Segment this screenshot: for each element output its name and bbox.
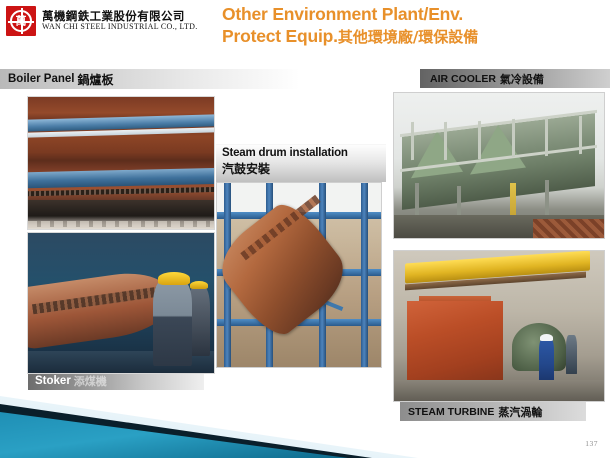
caption-steam-turbine: STEAM TURBINE蒸汽渦輪	[400, 402, 586, 421]
page-title: Other Environment Plant/Env. Protect Equ…	[222, 4, 602, 48]
company-name-en: WAN CHI STEEL INDUSTRIAL CO., LTD.	[42, 23, 198, 31]
caption-steam-drum-en: Steam drum installation	[222, 147, 386, 159]
caption-stoker: Stoker添煤機	[28, 372, 204, 390]
page-title-line1: Other Environment Plant/Env.	[222, 4, 602, 26]
boiler-panel-photo	[27, 96, 215, 230]
steam-drum-installation-photo	[216, 182, 382, 368]
caption-boiler-panel-cn: 鍋爐板	[77, 71, 113, 88]
company-name-block: 萬機鋼鉄工業股份有限公司 WAN CHI STEEL INDUSTRIAL CO…	[42, 10, 198, 31]
decorative-swoosh	[0, 378, 430, 458]
page-title-line2: Protect Equip.其他環境廠/環保設備	[222, 26, 602, 48]
wanchi-gear-logo-icon: 萬	[6, 6, 36, 36]
company-logo: 萬 萬機鋼鉄工業股份有限公司 WAN CHI STEEL INDUSTRIAL …	[6, 6, 198, 36]
page-number: 137	[585, 439, 598, 448]
air-cooler-photo	[393, 92, 605, 239]
caption-air-cooler-cn: 氣冷設備	[500, 71, 544, 87]
caption-boiler-panel: Boiler Panel鍋爐板	[0, 69, 300, 89]
caption-stoker-en: Stoker	[35, 375, 71, 387]
company-name-cn: 萬機鋼鉄工業股份有限公司	[42, 10, 198, 22]
caption-steam-turbine-en: STEAM TURBINE	[408, 406, 494, 418]
caption-air-cooler: AIR COOLER氣冷設備	[420, 69, 610, 88]
caption-boiler-panel-en: Boiler Panel	[8, 73, 74, 85]
page-title-line2-en: Protect Equip.	[222, 26, 338, 46]
caption-stoker-cn: 添煤機	[74, 373, 107, 389]
slide-root: 萬 萬機鋼鉄工業股份有限公司 WAN CHI STEEL INDUSTRIAL …	[0, 0, 610, 458]
caption-steam-drum: Steam drum installation 汽鼓安裝	[216, 144, 386, 182]
caption-air-cooler-en: AIR COOLER	[430, 73, 496, 85]
caption-steam-turbine-cn: 蒸汽渦輪	[498, 404, 542, 420]
steam-turbine-photo	[393, 250, 605, 402]
stoker-photo	[27, 232, 215, 374]
page-title-line2-cn: 其他環境廠/環保設備	[338, 28, 478, 46]
caption-steam-drum-cn: 汽鼓安裝	[222, 160, 386, 177]
